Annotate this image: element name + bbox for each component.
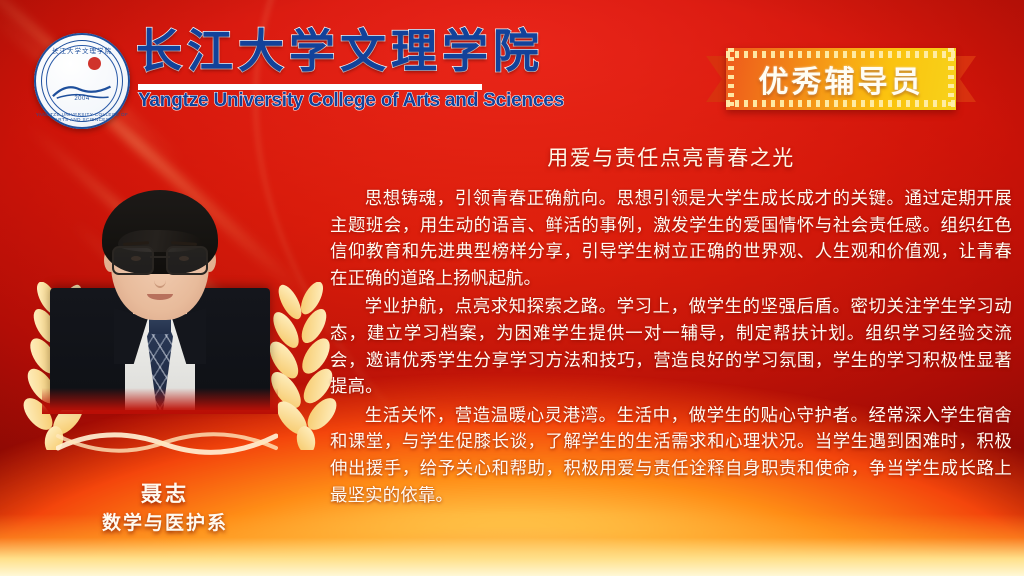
award-ribbon-badge: 优秀辅导员 [706, 48, 976, 110]
university-name-en: Yangtze University College of Arts and S… [138, 90, 486, 112]
university-seal-icon: 长江大学文理学院 2004 YANGTZE UNIVERSITY COLLEGE… [34, 33, 130, 129]
photo-bottom-fade [42, 388, 278, 414]
article-body: 思想铸魂，引领青春正确航向。思想引领是大学生成长成才的关键。通过定期开展主题班会… [330, 186, 1012, 509]
article-title: 用爱与责任点亮青春之光 [330, 142, 1012, 172]
university-name-cn: 长江大学文理学院 [136, 28, 544, 74]
article-paragraph: 学业护航，点亮求知探索之路。学习上，做学生的坚强后盾。密切关注学生学习动态，建立… [330, 294, 1012, 400]
article-paragraph: 思想铸魂，引领青春正确航向。思想引领是大学生成长成才的关键。通过定期开展主题班会… [330, 186, 1012, 292]
profile-department: 数学与医护系 [0, 508, 330, 535]
nose [154, 272, 166, 288]
eyeglass-lens-right [166, 246, 208, 275]
poster-header: 长江大学文理学院 2004 YANGTZE UNIVERSITY COLLEGE… [0, 0, 1024, 140]
eyeglasses-icon [112, 246, 208, 272]
profile-column: 聂志 数学与医护系 [0, 150, 330, 550]
seal-year: 2004 [34, 96, 130, 102]
profile-name: 聂志 [0, 478, 330, 508]
header-divider [138, 84, 482, 87]
seal-chinese-text: 长江大学文理学院 [34, 45, 130, 55]
ribbon-swirl-icon [56, 422, 278, 462]
seal-english-text: YANGTZE UNIVERSITY COLLEGE OF ARTS AND S… [34, 112, 130, 122]
eyeglass-bridge [150, 256, 170, 258]
award-title-label: 优秀辅导员 [726, 48, 956, 110]
award-poster: 长江大学文理学院 2004 YANGTZE UNIVERSITY COLLEGE… [0, 0, 1024, 576]
article-paragraph: 生活关怀，营造温暖心灵港湾。生活中，做学生的贴心守护者。经常深入学生宿舍和课堂，… [330, 403, 1012, 509]
seal-sun-icon [88, 57, 101, 70]
article-panel: 用爱与责任点亮青春之光 思想铸魂，引领青春正确航向。思想引领是大学生成长成才的关… [330, 142, 1012, 511]
eyeglass-lens-left [112, 246, 154, 275]
portrait-photo [48, 172, 272, 410]
